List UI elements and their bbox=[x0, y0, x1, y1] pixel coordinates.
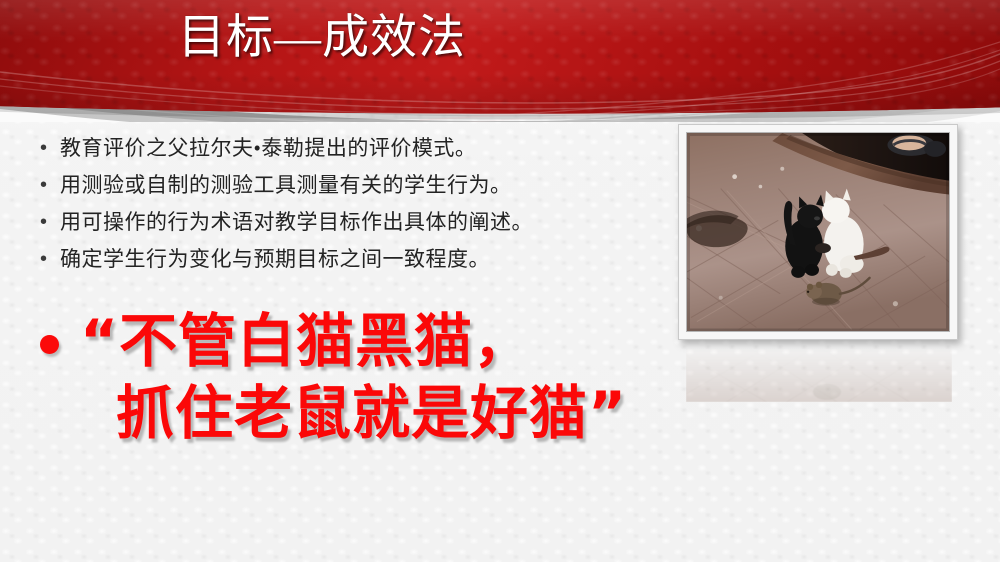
slide-header-banner: 目标—成效法 bbox=[0, 0, 1000, 122]
bullet-text: 确定学生行为变化与预期目标之间一致程度。 bbox=[60, 243, 650, 275]
slide-title: 目标—成效法 bbox=[178, 11, 466, 66]
bullet-marker-icon: • bbox=[40, 169, 60, 201]
photo-image bbox=[686, 132, 950, 332]
bullet-text: 用测验或自制的测验工具测量有关的学生行为。 bbox=[60, 169, 650, 201]
bullet-text: 教育评价之父拉尔夫•泰勒提出的评价模式。 bbox=[60, 132, 650, 164]
bullet-text: 用可操作的行为术语对教学目标作出具体的阐述。 bbox=[60, 206, 650, 238]
bullet-list: • 教育评价之父拉尔夫•泰勒提出的评价模式。 • 用测验或自制的测验工具测量有关… bbox=[40, 132, 650, 280]
quote-text-block: “不管白猫黑猫， 抓住老鼠就是好猫” bbox=[80, 305, 680, 449]
list-item: • 用可操作的行为术语对教学目标作出具体的阐述。 bbox=[40, 206, 650, 238]
highlight-quote: “不管白猫黑猫， 抓住老鼠就是好猫” bbox=[40, 305, 680, 449]
presentation-slide: 目标—成效法 • 教育评价之父拉尔夫•泰勒提出的评价模式。 • 用测验或自制的测… bbox=[0, 0, 1000, 562]
bullet-marker-icon: • bbox=[40, 132, 60, 164]
quote-line-2: 抓住老鼠就是好猫” bbox=[80, 379, 627, 447]
quote-bullet-icon bbox=[40, 305, 80, 354]
photo-reflection bbox=[686, 346, 952, 402]
list-item: • 用测验或自制的测验工具测量有关的学生行为。 bbox=[40, 169, 650, 201]
banner-red-fill bbox=[0, 0, 1000, 116]
quote-line-1: “不管白猫黑猫， bbox=[80, 307, 532, 375]
list-item: • 教育评价之父拉尔夫•泰勒提出的评价模式。 bbox=[40, 132, 650, 164]
list-item: • 确定学生行为变化与预期目标之间一致程度。 bbox=[40, 243, 650, 275]
bullet-marker-icon: • bbox=[40, 206, 60, 238]
photo-frame[interactable] bbox=[678, 124, 958, 340]
photo-figure bbox=[678, 124, 958, 340]
bullet-marker-icon: • bbox=[40, 243, 60, 275]
